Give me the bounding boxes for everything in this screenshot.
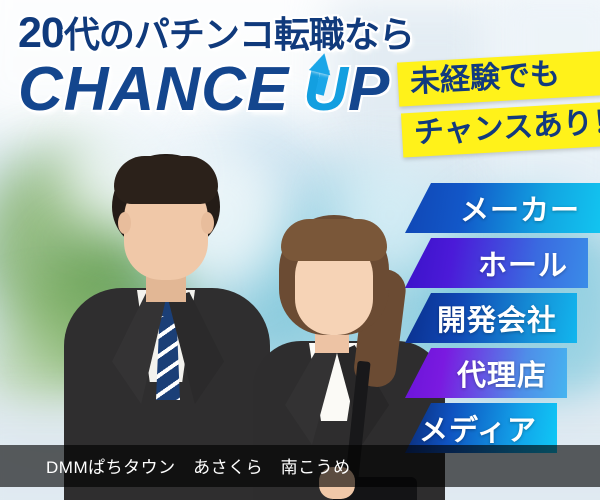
category-label-developer: 開発会社 [437, 297, 557, 339]
brand-letter-p: P [348, 55, 389, 124]
category-button-agency[interactable]: 代理店 [405, 348, 567, 398]
headline-line-2: CHANCE UP [18, 59, 438, 121]
category-button-hall[interactable]: ホール [405, 238, 588, 288]
brand-word-chance: CHANCE [18, 59, 289, 121]
female-fringe [281, 219, 387, 261]
headline-line-1-text: 代のパチンコ転職なら [64, 14, 414, 55]
brand-word-up: UP [303, 59, 389, 121]
category-label-maker: メーカー [460, 187, 580, 229]
badge-no-experience: 未経験でも [397, 49, 600, 106]
category-button-maker[interactable]: メーカー [405, 183, 600, 233]
advertisement-banner[interactable]: 20代のパチンコ転職なら CHANCE UP 未経験でも チャンスあり！ メーカ… [0, 0, 600, 500]
category-button-list: メーカー ホール 開発会社 代理店 メディア [405, 183, 600, 458]
promo-badges: 未経験でも チャンスあり！ [398, 56, 600, 151]
category-label-hall: ホール [478, 242, 568, 284]
headline-line-1: 20代のパチンコ転職なら [18, 12, 438, 55]
category-button-developer[interactable]: 開発会社 [405, 293, 577, 343]
badge-chance-available: チャンスあり！ [401, 101, 600, 158]
headline-block: 20代のパチンコ転職なら CHANCE UP [18, 12, 438, 121]
caption-text: DMMぱちタウン あさくら 南こうめ [0, 453, 600, 478]
category-label-media: メディア [419, 407, 537, 449]
headline-age-number: 20 [18, 9, 64, 57]
caption-bar: DMMぱちタウン あさくら 南こうめ [0, 445, 600, 487]
category-label-agency: 代理店 [457, 352, 547, 394]
